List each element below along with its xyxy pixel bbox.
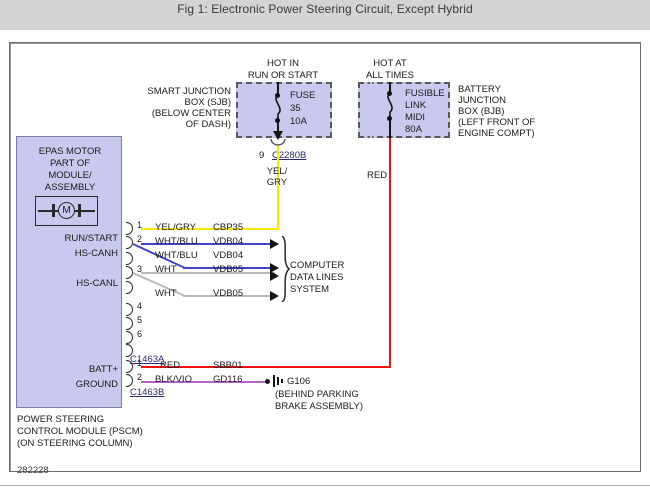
epas-label-line4: ASSEMBLY	[24, 182, 116, 193]
wire-red-vertical	[389, 138, 391, 368]
circuit-code-5: VDB05	[213, 288, 243, 299]
computer-data-lines-line3: SYSTEM	[290, 284, 329, 295]
circuit-color-7: BLK/VIO	[155, 374, 192, 385]
pin-function-run-start: RUN/START	[36, 233, 118, 244]
bjb-label-line2: JUNCTION	[458, 95, 506, 106]
pin-number-b1: 1	[137, 358, 142, 368]
fuse-label-line2: 35	[290, 103, 301, 114]
computer-data-lines-line1: COMPUTER	[290, 260, 344, 271]
circuit-code-6: SBB01	[213, 360, 243, 371]
motor-brush-left-icon	[52, 204, 55, 217]
ground-bar-short-icon	[281, 379, 283, 383]
circuit-color-6: RED	[160, 360, 180, 371]
fusible-link-line4: 80A	[405, 124, 422, 135]
sjb-label-line4: OF DASH)	[128, 119, 231, 130]
bjb-label-line5: ENGINE COMPT)	[458, 128, 535, 139]
hot-at-all-times-heading-line1: HOT AT	[340, 58, 440, 69]
bottom-rule	[0, 485, 650, 486]
pin-function-hs-canh: HS-CANH	[36, 248, 118, 259]
data-line-arrow-3	[270, 271, 279, 281]
fuse-label-line1: FUSE	[290, 90, 315, 101]
circuit-code-1: CBP35	[213, 222, 243, 233]
fusible-link-feed-bottom	[389, 118, 391, 138]
circuit-color-5: WHT	[155, 288, 177, 299]
fuse-label-line3: 10A	[290, 116, 307, 127]
hot-in-run-heading-line2: RUN OR START	[218, 70, 348, 81]
ground-note-line2: BRAKE ASSEMBLY)	[275, 401, 363, 412]
pscm-caption-line1: POWER STEERING	[17, 414, 104, 425]
epas-label-line3: MODULE/	[24, 170, 116, 181]
computer-data-lines-line2: DATA LINES	[290, 272, 344, 283]
hot-at-all-times-heading-line2: ALL TIMES	[340, 70, 440, 81]
epas-label-line2: PART OF	[24, 158, 116, 169]
ground-bar-mid-icon	[277, 377, 279, 385]
data-line-arrow-4	[270, 291, 279, 301]
diagram-id: 282228	[17, 465, 49, 476]
sjb-label-line1: SMART JUNCTION	[128, 86, 231, 97]
yel-gry-color-line1: YEL/	[250, 166, 304, 177]
pscm-caption-line3: (ON STEERING COLUMN)	[17, 438, 133, 449]
screenshot-root: Fig 1: Electronic Power Steering Circuit…	[0, 0, 650, 492]
circuit-code-4: VDB05	[213, 264, 243, 275]
fusible-link-line2: LINK	[405, 100, 426, 111]
yel-gry-color-line2: GRY	[250, 177, 304, 188]
motor-icon: M	[58, 202, 75, 219]
circuit-color-1: YEL/GRY	[155, 222, 196, 233]
motor-brush-right-icon	[78, 204, 81, 217]
ground-label: G106	[287, 376, 310, 387]
c2280b-pin-number: 9	[259, 150, 264, 161]
ground-splice-dot	[265, 379, 270, 384]
pin-number-a1: 1	[137, 220, 142, 230]
sjb-label-line3: (BELOW CENTER	[128, 108, 231, 119]
hot-in-run-heading-line1: HOT IN	[218, 58, 348, 69]
circuit-code-2: VDB04	[213, 236, 243, 247]
circuit-code-7: GD116	[213, 374, 242, 385]
pin-function-ground: GROUND	[36, 379, 118, 390]
bjb-left-edge-mask	[370, 82, 372, 138]
pin-function-hs-canl: HS-CANL	[36, 278, 118, 289]
fusible-link-line3: MIDI	[405, 112, 425, 123]
sjb-label-line2: BOX (SJB)	[128, 97, 231, 108]
page-title: Fig 1: Electronic Power Steering Circuit…	[0, 4, 650, 15]
bjb-label-line4: (LEFT FRONT OF	[458, 117, 535, 128]
circuit-code-3: VDB04	[213, 250, 243, 261]
circuit-color-3: WHT/BLU	[155, 250, 198, 261]
pin-number-a6: 6	[137, 329, 142, 339]
pin-number-a5: 5	[137, 315, 142, 325]
connector-label-c1463b: C1463B	[130, 387, 164, 398]
wire-yel-gry-vertical	[277, 146, 279, 230]
bjb-label-line3: BOX (BJB)	[458, 106, 504, 117]
red-wire-color-label: RED	[367, 170, 387, 181]
bjb-label-line1: BATTERY	[458, 84, 501, 95]
fusible-link-line1: FUSIBLE	[405, 88, 445, 99]
pin-number-a4: 4	[137, 301, 142, 311]
ground-bar-tall-icon	[273, 375, 275, 387]
pin-function-batt-plus: BATT+	[36, 364, 118, 375]
pscm-caption-line2: CONTROL MODULE (PSCM)	[17, 426, 143, 437]
epas-label-line1: EPAS MOTOR	[24, 146, 116, 157]
data-line-arrow-1	[270, 239, 279, 249]
ground-note-line1: (BEHIND PARKING	[275, 389, 359, 400]
